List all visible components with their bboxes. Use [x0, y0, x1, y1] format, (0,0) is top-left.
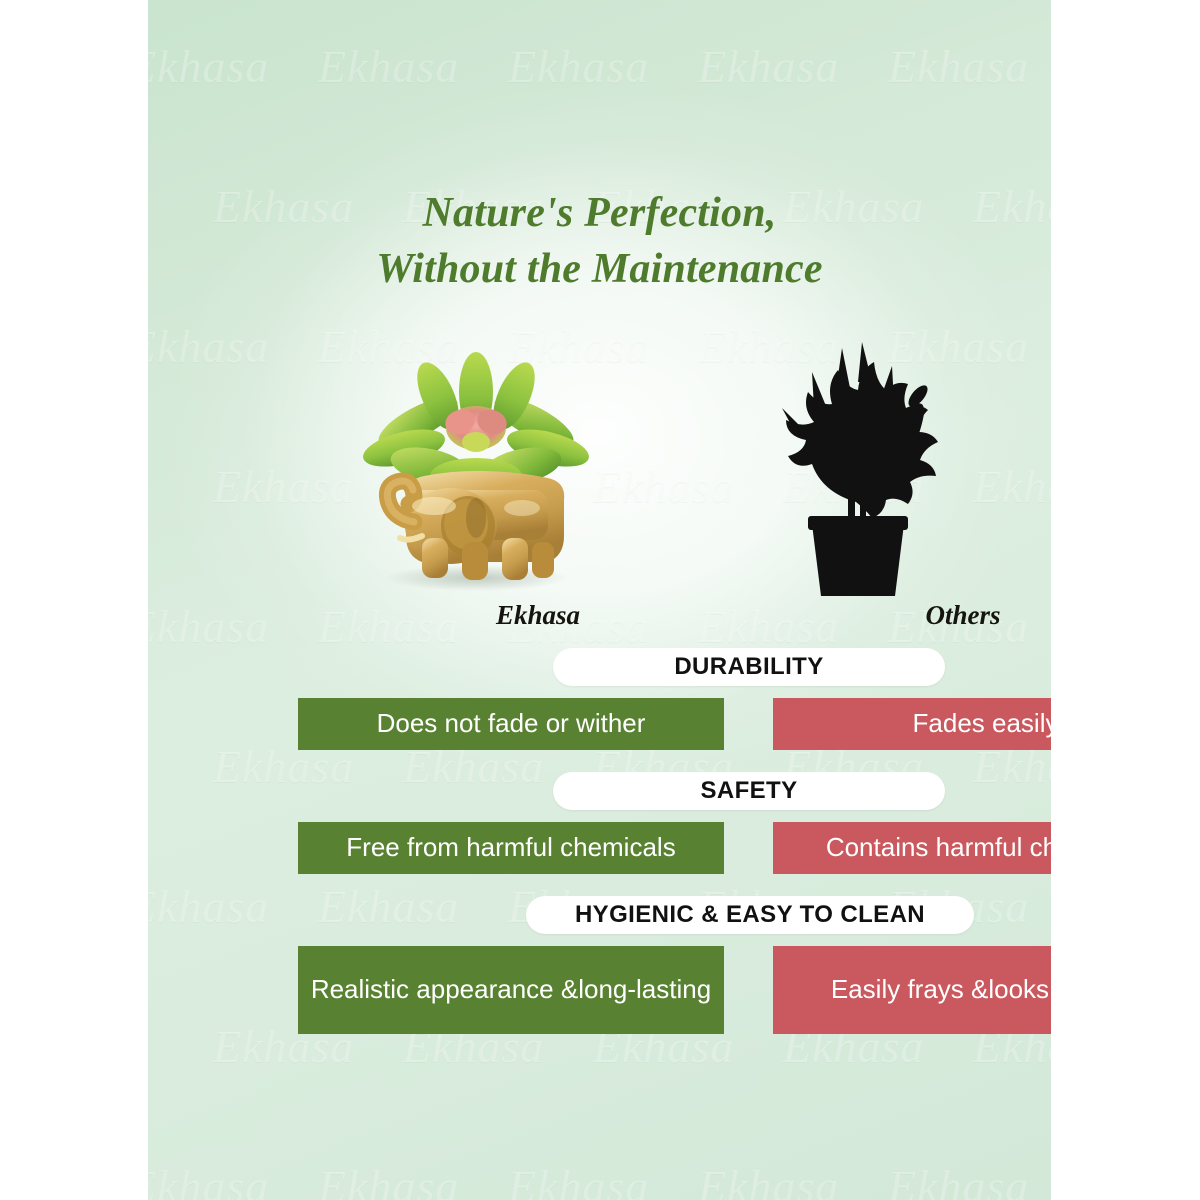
table-row: Does not fade or wither Fades easily	[298, 698, 1051, 750]
others-caption: Others	[813, 600, 1051, 631]
content-panel: EkhasaEkhasaEkhasaEkhasaEkhasaEkhasaEkha…	[148, 0, 1051, 1200]
category-label-durability: DURABILITY	[553, 648, 945, 686]
watermark-text: Ekhasa	[148, 880, 269, 933]
headline-line-2: Without the Maintenance	[148, 242, 1051, 298]
watermark-text: Ekhasa	[318, 1160, 459, 1200]
headline-line-1: Nature's Perfection,	[148, 186, 1051, 242]
watermark-text: Ekhasa	[888, 1160, 1029, 1200]
category-row-hygienic: HYGIENIC & EASY TO CLEAN	[298, 896, 1051, 936]
category-label-safety: SAFETY	[553, 772, 945, 810]
others-product-image	[708, 330, 1008, 600]
ekhasa-value-hygienic: Realistic appearance &long-lasting	[298, 946, 724, 1034]
table-row: Free from harmful chemicals Contains har…	[298, 822, 1051, 874]
ekhasa-value-durability: Does not fade or wither	[298, 698, 724, 750]
others-value-hygienic: Easily frays &looks shabby	[773, 946, 1051, 1034]
others-value-safety: Contains harmful chemicals	[773, 822, 1051, 874]
others-value-durability: Fades easily	[773, 698, 1051, 750]
infographic-canvas: EkhasaEkhasaEkhasaEkhasaEkhasaEkhasaEkha…	[0, 0, 1200, 1200]
row-spacer	[298, 750, 1051, 772]
watermark-text: Ekhasa	[508, 40, 649, 93]
gold-elephant-succulent-planter-icon	[326, 330, 626, 600]
category-label-hygienic: HYGIENIC & EASY TO CLEAN	[526, 896, 974, 934]
category-row-safety: SAFETY	[298, 772, 1051, 812]
watermark-text: Ekhasa	[318, 40, 459, 93]
watermark-text: Ekhasa	[698, 40, 839, 93]
watermark-text: Ekhasa	[888, 40, 1029, 93]
row-spacer	[298, 874, 1051, 896]
table-row: Realistic appearance &long-lasting Easil…	[298, 946, 1051, 1034]
product-comparison-images	[148, 330, 1051, 620]
watermark-text: Ekhasa	[148, 40, 269, 93]
watermark-text: Ekhasa	[508, 1160, 649, 1200]
ekhasa-product-image	[326, 330, 626, 600]
page-title: Nature's Perfection, Without the Mainten…	[148, 186, 1051, 298]
comparison-table: DURABILITY Does not fade or wither Fades…	[298, 648, 1051, 1034]
category-row-durability: DURABILITY	[298, 648, 1051, 688]
watermark-text: Ekhasa	[698, 1160, 839, 1200]
ekhasa-value-safety: Free from harmful chemicals	[298, 822, 724, 874]
black-potted-plant-silhouette-icon	[708, 330, 1008, 600]
watermark-text: Ekhasa	[148, 1160, 269, 1200]
ekhasa-caption: Ekhasa	[388, 600, 688, 631]
